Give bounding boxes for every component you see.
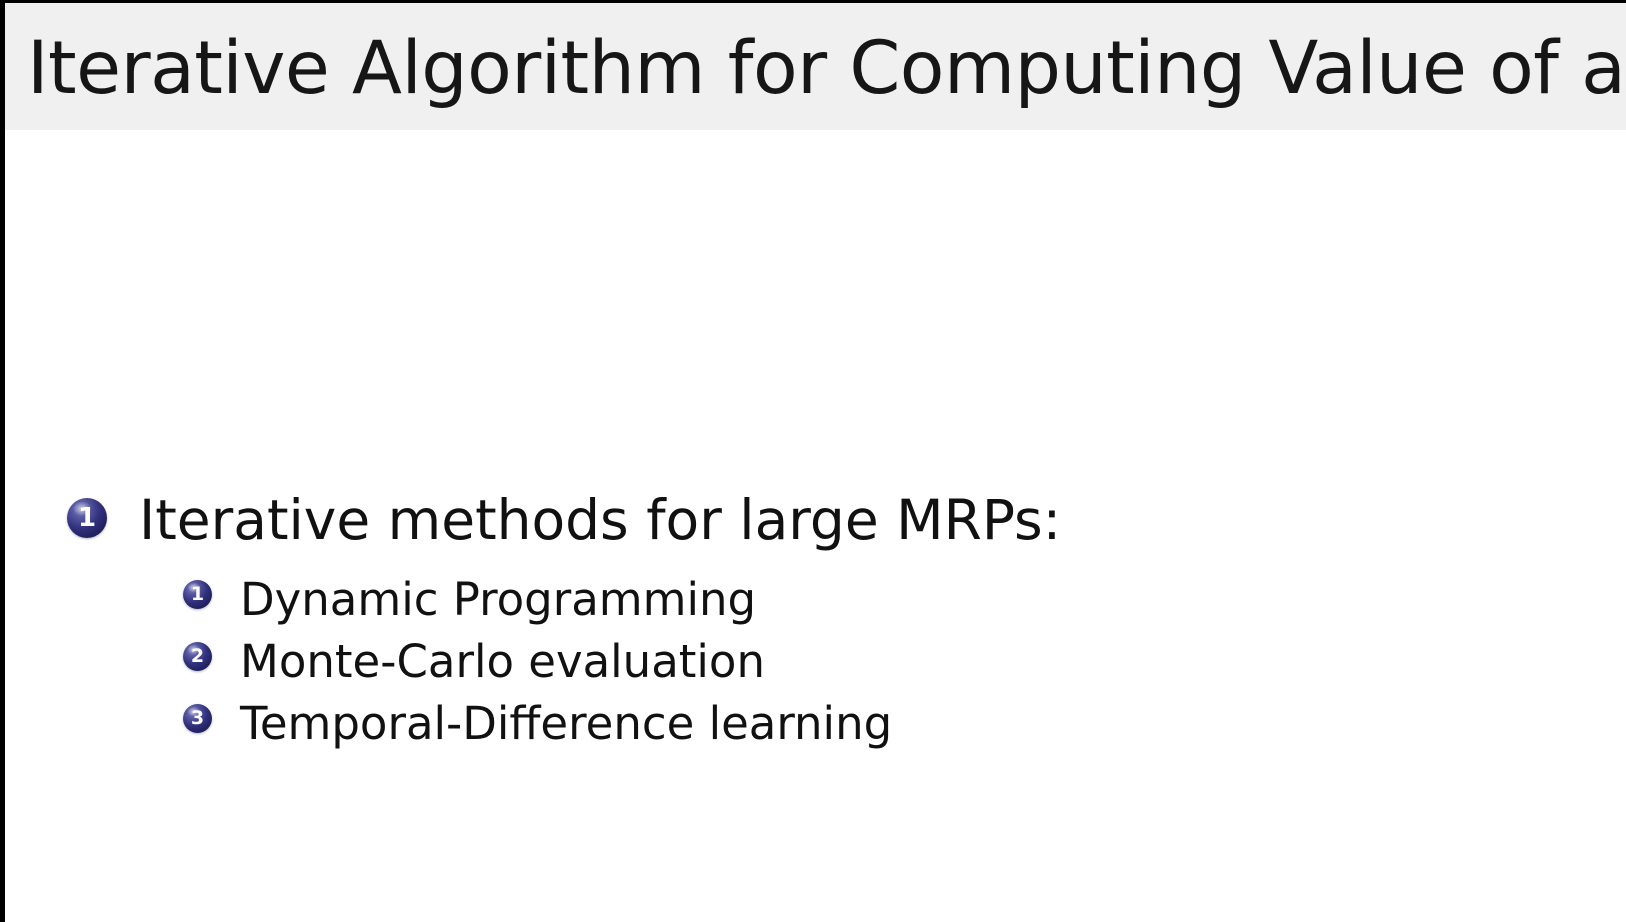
slide-title: Iterative Algorithm for Computing Value … <box>27 21 1617 117</box>
slide-header-band: Iterative Algorithm for Computing Value … <box>5 3 1626 130</box>
list-item-level2-label: Monte-Carlo evaluation <box>240 636 765 688</box>
enumerate-sublist: 1 Dynamic Programming 2 Monte-Carlo eval… <box>183 580 892 766</box>
list-item-level1-label: Iterative methods for large MRPs: <box>139 489 1061 551</box>
presentation-slide: Iterative Algorithm for Computing Value … <box>0 0 1626 922</box>
enumerate-ball-icon: 1 <box>67 498 107 538</box>
slide-body: 1 Iterative methods for large MRPs: 1 Dy… <box>5 130 1626 922</box>
list-item-level1: 1 Iterative methods for large MRPs: <box>67 498 1061 560</box>
enumerate-ball-number: 2 <box>183 642 212 671</box>
list-item-level2: 1 Dynamic Programming <box>183 580 892 642</box>
enumerate-ball-icon: 1 <box>183 580 212 609</box>
enumerate-ball-number: 3 <box>183 704 212 733</box>
list-item-level2: 3 Temporal-Difference learning <box>183 704 892 766</box>
list-item-level2-label: Dynamic Programming <box>240 574 756 626</box>
enumerate-ball-number: 1 <box>67 498 107 538</box>
list-item-level2: 2 Monte-Carlo evaluation <box>183 642 892 704</box>
enumerate-ball-number: 1 <box>183 580 212 609</box>
list-item-level2-label: Temporal-Difference learning <box>240 698 892 750</box>
enumerate-ball-icon: 2 <box>183 642 212 671</box>
enumerate-ball-icon: 3 <box>183 704 212 733</box>
